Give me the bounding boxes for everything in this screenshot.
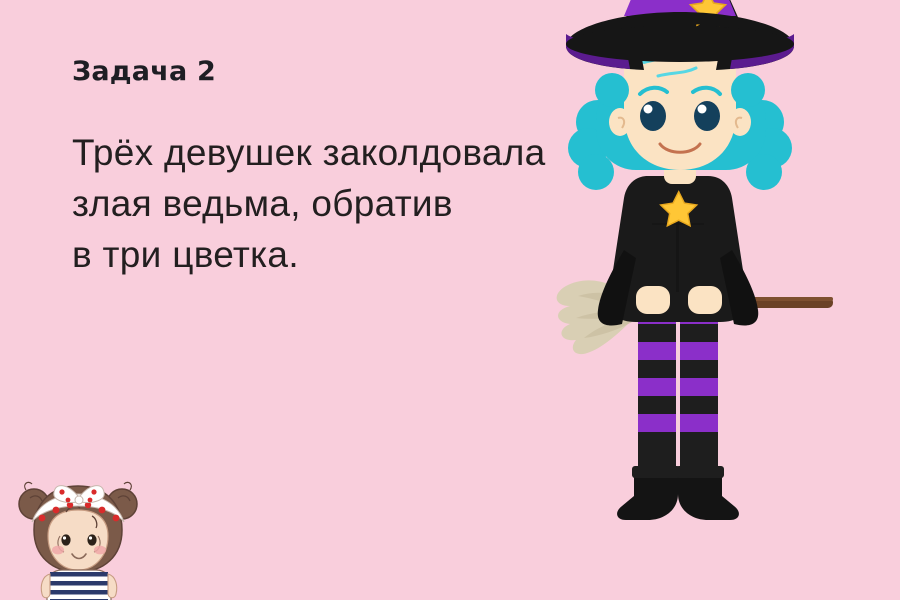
girl-illustration: [6, 462, 152, 600]
witch-illustration: [540, 140, 830, 550]
girl-shirt: [41, 570, 116, 600]
witch-legs: [638, 300, 718, 475]
page-title: Задача 2: [72, 58, 672, 85]
slide-canvas: Задача 2 Трёх девушек заколдовала злая в…: [0, 0, 900, 600]
witch-boots: [617, 466, 739, 520]
witch-hat: [566, 0, 794, 70]
